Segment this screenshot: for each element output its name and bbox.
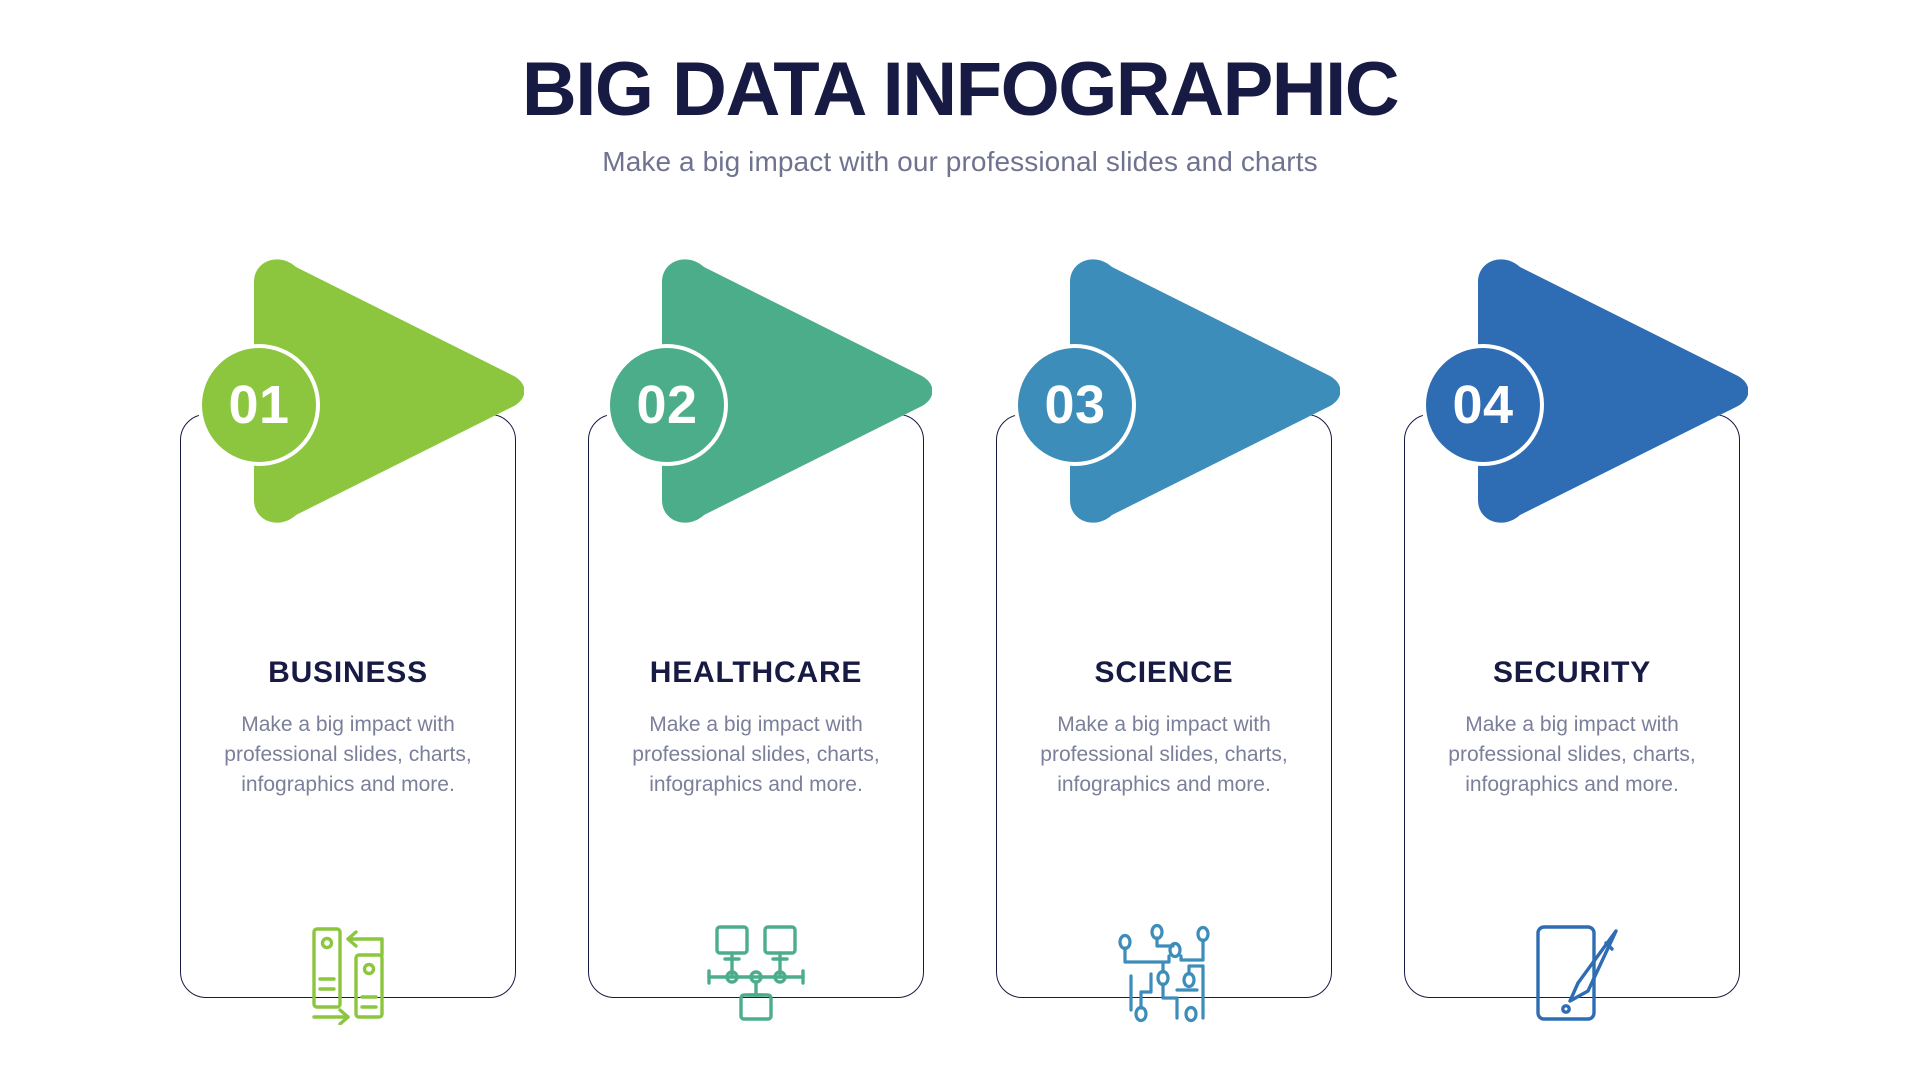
page-title: BIG DATA INFOGRAPHIC: [0, 50, 1920, 130]
card-body-2: HEALTHCARE Make a big impact with profes…: [588, 656, 924, 799]
tablet-stylus-icon: [1404, 918, 1740, 1028]
step-card-healthcare[interactable]: 02 HEALTHCARE Make a big impact with pro…: [588, 258, 924, 1018]
card-body-4: SECURITY Make a big impact with professi…: [1404, 656, 1740, 799]
card-text-business: Make a big impact with professional slid…: [198, 710, 498, 799]
card-title-science: SCIENCE: [1014, 656, 1314, 690]
page-subtitle: Make a big impact with our professional …: [0, 146, 1920, 178]
step-number-4: 04: [1452, 378, 1513, 432]
step-card-business[interactable]: 01 BUSINESS Make a big impact with profe…: [180, 258, 516, 1018]
circuit-board-icon: [996, 918, 1332, 1028]
card-title-security: SECURITY: [1422, 656, 1722, 690]
card-body-1: BUSINESS Make a big impact with professi…: [180, 656, 516, 799]
card-title-healthcare: HEALTHCARE: [606, 656, 906, 690]
card-body-3: SCIENCE Make a big impact with professio…: [996, 656, 1332, 799]
step-number-3: 03: [1044, 378, 1105, 432]
step-card-science[interactable]: 03 SCIENCE Make a big impact with profes…: [996, 258, 1332, 1018]
step-number-1: 01: [228, 378, 289, 432]
step-number-badge-4: 04: [1422, 344, 1544, 466]
card-text-science: Make a big impact with professional slid…: [1014, 710, 1314, 799]
step-number-2: 02: [636, 378, 697, 432]
card-title-business: BUSINESS: [198, 656, 498, 690]
infographic-slide: BIG DATA INFOGRAPHIC Make a big impact w…: [0, 0, 1920, 1080]
card-text-healthcare: Make a big impact with professional slid…: [606, 710, 906, 799]
step-number-badge-1: 01: [198, 344, 320, 466]
header: BIG DATA INFOGRAPHIC Make a big impact w…: [0, 50, 1920, 178]
step-card-security[interactable]: 04 SECURITY Make a big impact with profe…: [1404, 258, 1740, 1018]
steps-row: 01 BUSINESS Make a big impact with profe…: [180, 258, 1740, 1018]
step-number-badge-2: 02: [606, 344, 728, 466]
server-exchange-icon: [180, 918, 516, 1028]
step-number-badge-3: 03: [1014, 344, 1136, 466]
card-text-security: Make a big impact with professional slid…: [1422, 710, 1722, 799]
computer-network-icon: [588, 918, 924, 1028]
